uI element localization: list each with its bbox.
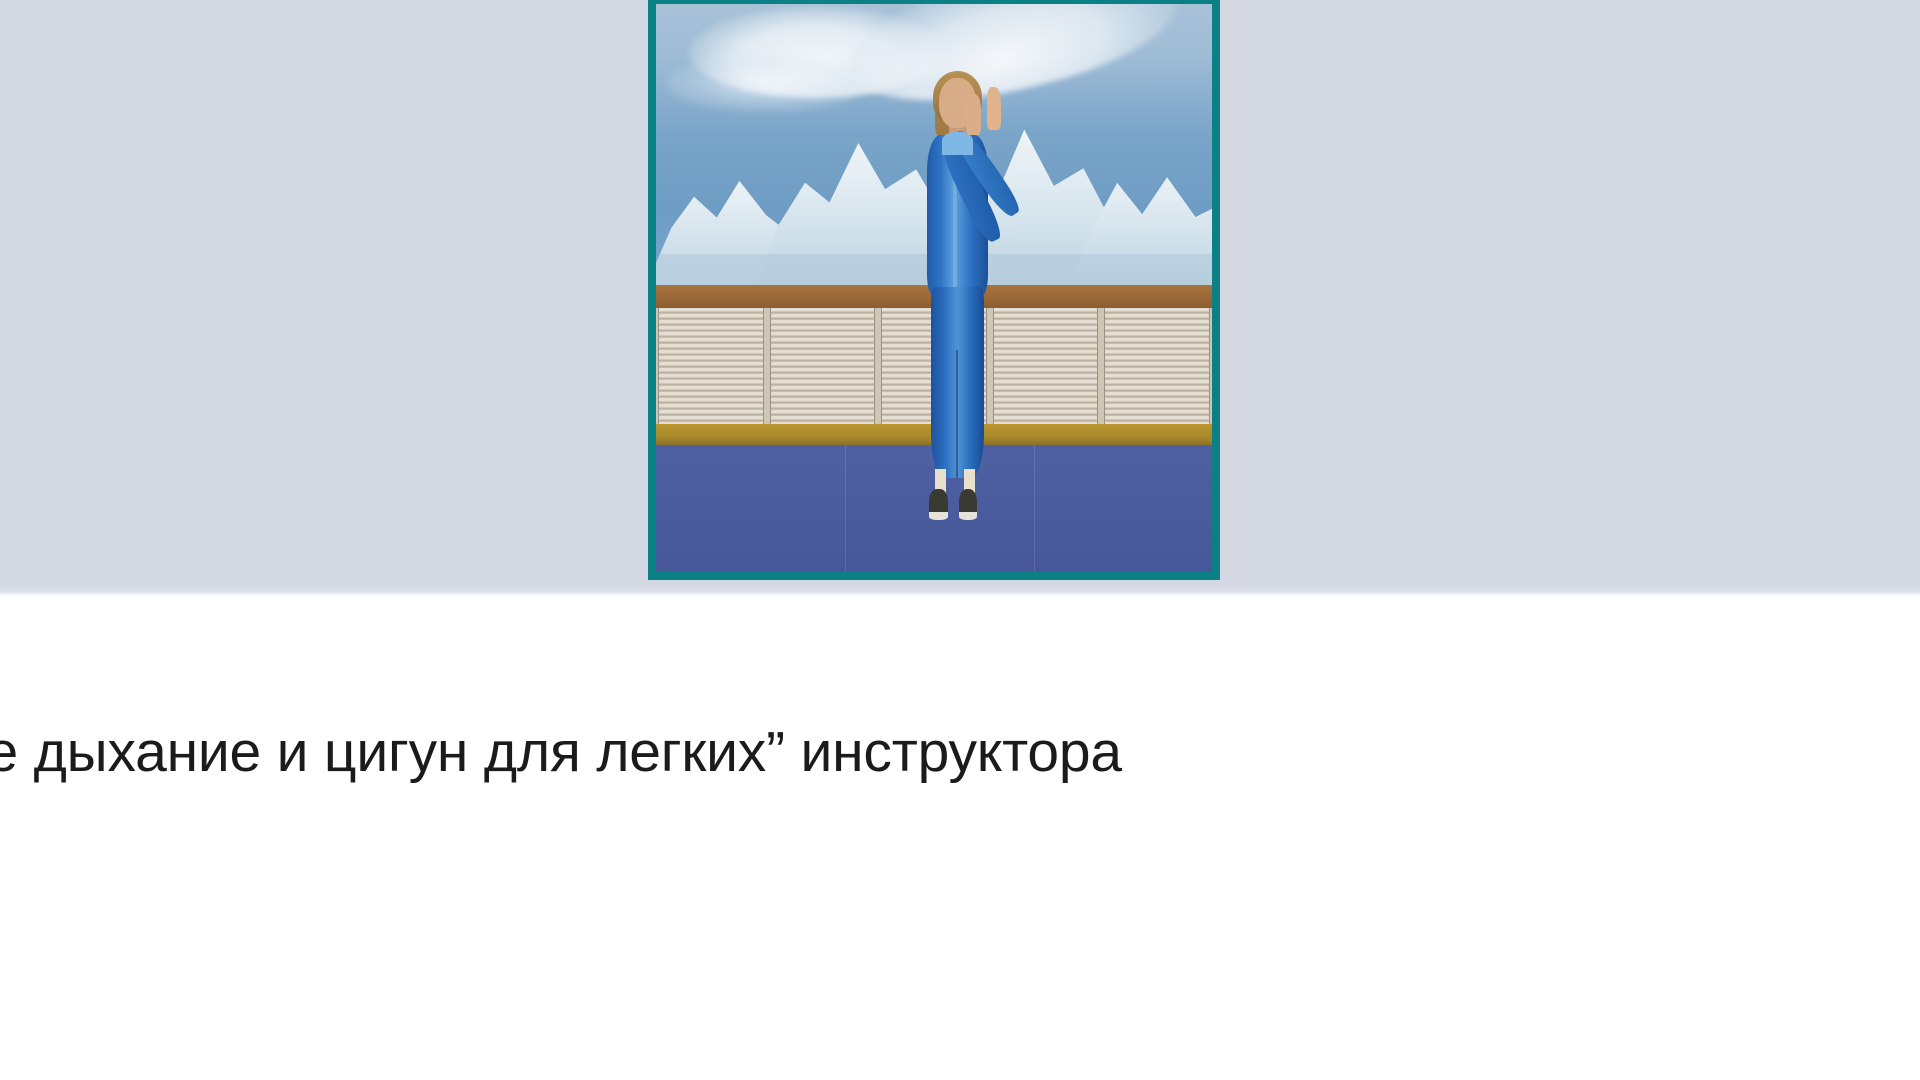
page-root: вободное дыхание и цигун для легких” инс… — [0, 0, 1920, 1080]
instructor-hand-far — [987, 87, 1002, 130]
instructor-shoe-sole-left — [929, 512, 947, 520]
caption-block: вободное дыхание и цигун для легких” инс… — [0, 596, 1920, 1080]
instructor-figure — [895, 78, 1017, 532]
photo-frame — [648, 0, 1220, 580]
hero-band-fade — [0, 586, 1920, 596]
radiator-grille — [658, 308, 764, 424]
instructor-shoe-sole-right — [959, 512, 977, 520]
radiator-grille — [1104, 308, 1210, 424]
caption-paragraph: вободное дыхание и цигун для легких” инс… — [0, 712, 1920, 872]
radiator-grille — [770, 308, 876, 424]
instructor-photo — [656, 4, 1212, 572]
floor-seam — [845, 445, 846, 572]
floor-seam — [1034, 445, 1035, 572]
instructor-collar — [942, 132, 974, 155]
mural-cloud-low — [667, 55, 867, 112]
instructor-hand-near — [966, 94, 981, 135]
instructor-trouser-split — [956, 350, 958, 477]
